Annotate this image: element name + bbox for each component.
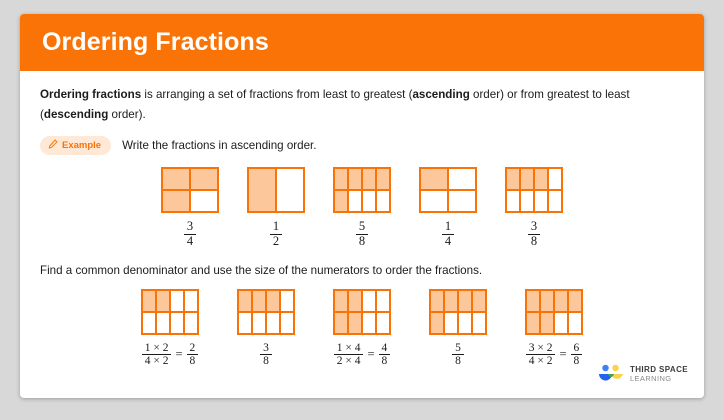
grid-cell-shaded xyxy=(349,169,361,189)
grid-cell-shaded xyxy=(421,169,447,189)
grid-cell-empty xyxy=(449,191,475,211)
grid-cell-empty xyxy=(349,191,361,211)
grid-cell-shaded xyxy=(431,313,443,333)
grid-cell-empty xyxy=(377,313,389,333)
brand-logo: THIRD SPACE LEARNING xyxy=(598,364,688,386)
grid-cell-empty xyxy=(157,313,169,333)
fraction-grid xyxy=(333,289,391,335)
fraction-diagram-five-eighths: 58 xyxy=(417,289,499,368)
grid-cell-shaded xyxy=(335,291,347,311)
grid-cell-empty xyxy=(185,291,197,311)
fraction-numerator: 3 xyxy=(184,220,196,234)
logo-line-2: LEARNING xyxy=(630,375,688,383)
fraction: 58 xyxy=(452,342,464,368)
grid-cell-shaded xyxy=(527,291,539,311)
common-denominator-text: Find a common denominator and use the si… xyxy=(40,264,684,277)
fraction-label: 34 xyxy=(184,220,196,248)
fraction-diagram-six-eighths: 3 × 24 × 2=68 xyxy=(513,289,595,368)
fraction-numerator: 3 xyxy=(528,220,540,234)
fraction-label: 38 xyxy=(528,220,540,248)
fraction-denominator: 8 xyxy=(571,354,583,367)
definition-paragraph: Ordering fractions is arranging a set of… xyxy=(40,85,684,125)
pencil-icon xyxy=(48,139,58,152)
fraction-denominator: 8 xyxy=(379,354,391,367)
fraction-denominator: 2 × 4 xyxy=(334,354,364,367)
fraction-denominator: 8 xyxy=(356,234,368,249)
fraction-numerator: 2 xyxy=(187,342,199,354)
fraction-denominator: 8 xyxy=(528,234,540,249)
fraction-label: 58 xyxy=(356,220,368,248)
fraction-diagram-row-2: 1 × 24 × 2=28381 × 42 × 4=48583 × 24 × 2… xyxy=(40,289,684,368)
grid-cell-shaded xyxy=(335,191,347,211)
fraction: 38 xyxy=(260,342,272,368)
grid-cell-shaded xyxy=(541,313,553,333)
grid-cell-shaded xyxy=(253,291,265,311)
grid-cell-shaded xyxy=(363,169,375,189)
fraction-denominator: 4 xyxy=(442,234,454,249)
grid-cell-empty xyxy=(171,291,183,311)
fraction-denominator: 8 xyxy=(452,354,464,367)
grid-cell-empty xyxy=(445,313,457,333)
grid-cell-empty xyxy=(191,191,217,211)
grid-cell-empty xyxy=(171,313,183,333)
grid-cell-shaded xyxy=(527,313,539,333)
fraction-diagram-two-eighths: 1 × 24 × 2=28 xyxy=(129,289,211,368)
fraction-numerator: 6 xyxy=(571,342,583,354)
fraction-grid xyxy=(237,289,295,335)
grid-cell-shaded xyxy=(459,291,471,311)
grid-cell-shaded xyxy=(377,169,389,189)
term-descending: descending xyxy=(44,108,108,121)
lesson-card: Ordering Fractions Ordering fractions is… xyxy=(20,14,704,398)
fraction-diagram-three-eighths: 38 xyxy=(225,289,307,368)
lesson-body: Ordering fractions is arranging a set of… xyxy=(20,71,704,398)
grid-cell-empty xyxy=(281,313,293,333)
equals-sign: = xyxy=(559,347,566,362)
grid-cell-empty xyxy=(421,191,447,211)
fraction-grid xyxy=(429,289,487,335)
example-badge: Example xyxy=(40,136,111,155)
fraction-grid xyxy=(419,167,477,213)
fraction: 1 × 24 × 2 xyxy=(142,342,172,368)
fraction: 48 xyxy=(379,342,391,368)
grid-cell-empty xyxy=(377,291,389,311)
fraction-diagram-three-eighths: 38 xyxy=(498,167,570,248)
grid-cell-shaded xyxy=(163,191,189,211)
grid-cell-empty xyxy=(521,191,533,211)
grid-cell-shaded xyxy=(473,291,485,311)
fraction-denominator: 4 × 2 xyxy=(142,354,172,367)
fraction-numerator: 3 × 2 xyxy=(526,342,556,354)
fraction-diagram-five-eighths: 58 xyxy=(326,167,398,248)
fraction-numerator: 1 × 4 xyxy=(334,342,364,354)
grid-cell-empty xyxy=(555,313,567,333)
grid-cell-empty xyxy=(363,313,375,333)
logo-mark-icon xyxy=(598,364,624,386)
grid-cell-shaded xyxy=(143,291,155,311)
grid-cell-shaded xyxy=(541,291,553,311)
fraction: 1 × 42 × 4 xyxy=(334,342,364,368)
fraction-numerator: 1 xyxy=(270,220,282,234)
fraction-denominator: 8 xyxy=(187,354,199,367)
fraction-diagram-one-quarter: 14 xyxy=(412,167,484,248)
grid-cell-empty xyxy=(449,169,475,189)
fraction-grid xyxy=(161,167,219,213)
grid-cell-shaded xyxy=(239,291,251,311)
fraction-label: 1 × 42 × 4=48 xyxy=(334,342,391,368)
grid-cell-shaded xyxy=(535,169,547,189)
grid-cell-shaded xyxy=(191,169,217,189)
fraction-numerator: 1 xyxy=(442,220,454,234)
fraction: 34 xyxy=(184,220,196,248)
grid-cell-shaded xyxy=(335,169,347,189)
grid-cell-empty xyxy=(535,191,547,211)
fraction-numerator: 1 × 2 xyxy=(142,342,172,354)
grid-cell-shaded xyxy=(445,291,457,311)
grid-cell-shaded xyxy=(569,291,581,311)
fraction-label: 14 xyxy=(442,220,454,248)
grid-cell-shaded xyxy=(349,313,361,333)
fraction-grid xyxy=(141,289,199,335)
fraction-label: 38 xyxy=(260,342,272,368)
fraction-grid xyxy=(333,167,391,213)
fraction-diagram-four-eighths: 1 × 42 × 4=48 xyxy=(321,289,403,368)
grid-cell-empty xyxy=(377,191,389,211)
fraction-denominator: 4 × 2 xyxy=(526,354,556,367)
fraction: 12 xyxy=(270,220,282,248)
grid-cell-shaded xyxy=(163,169,189,189)
grid-cell-empty xyxy=(473,313,485,333)
grid-cell-shaded xyxy=(267,291,279,311)
grid-cell-shaded xyxy=(521,169,533,189)
fraction-diagram-one-half: 12 xyxy=(240,167,312,248)
page-header: Ordering Fractions xyxy=(20,14,704,71)
grid-cell-empty xyxy=(549,191,561,211)
logo-text: THIRD SPACE LEARNING xyxy=(630,366,688,383)
grid-cell-empty xyxy=(507,191,519,211)
fraction: 58 xyxy=(356,220,368,248)
fraction-denominator: 8 xyxy=(260,354,272,367)
grid-cell-shaded xyxy=(335,313,347,333)
grid-cell-shaded xyxy=(249,169,275,211)
fraction: 28 xyxy=(187,342,199,368)
term-ascending: ascending xyxy=(412,88,469,101)
grid-cell-empty xyxy=(253,313,265,333)
definition-part3: order). xyxy=(108,108,145,121)
grid-cell-shaded xyxy=(157,291,169,311)
example-row: Example Write the fractions in ascending… xyxy=(40,136,684,155)
grid-cell-empty xyxy=(459,313,471,333)
fraction-label: 1 × 24 × 2=28 xyxy=(142,342,199,368)
definition-term: Ordering fractions xyxy=(40,88,141,101)
grid-cell-empty xyxy=(277,169,303,211)
example-badge-label: Example xyxy=(62,140,101,151)
fraction: 38 xyxy=(528,220,540,248)
page-title: Ordering Fractions xyxy=(42,28,269,57)
grid-cell-empty xyxy=(239,313,251,333)
grid-cell-shaded xyxy=(349,291,361,311)
grid-cell-empty xyxy=(143,313,155,333)
fraction-diagram-row-1: 3412581438 xyxy=(40,167,684,248)
grid-cell-shaded xyxy=(507,169,519,189)
grid-cell-empty xyxy=(363,191,375,211)
fraction-label: 58 xyxy=(452,342,464,368)
fraction-numerator: 5 xyxy=(356,220,368,234)
grid-cell-empty xyxy=(267,313,279,333)
fraction-numerator: 4 xyxy=(379,342,391,354)
grid-cell-empty xyxy=(549,169,561,189)
fraction: 14 xyxy=(442,220,454,248)
fraction-grid xyxy=(525,289,583,335)
grid-cell-shaded xyxy=(555,291,567,311)
fraction-label: 3 × 24 × 2=68 xyxy=(526,342,583,368)
grid-cell-empty xyxy=(569,313,581,333)
fraction-diagram-three-quarters: 34 xyxy=(154,167,226,248)
grid-cell-shaded xyxy=(431,291,443,311)
grid-cell-empty xyxy=(363,291,375,311)
fraction-numerator: 3 xyxy=(260,342,272,354)
definition-part1: is arranging a set of fractions from lea… xyxy=(141,88,412,101)
grid-cell-empty xyxy=(281,291,293,311)
grid-cell-empty xyxy=(185,313,197,333)
fraction: 3 × 24 × 2 xyxy=(526,342,556,368)
fraction-denominator: 4 xyxy=(184,234,196,249)
fraction-denominator: 2 xyxy=(270,234,282,249)
equals-sign: = xyxy=(175,347,182,362)
example-instruction: Write the fractions in ascending order. xyxy=(122,139,316,152)
fraction-numerator: 5 xyxy=(452,342,464,354)
fraction-grid xyxy=(247,167,305,213)
fraction-grid xyxy=(505,167,563,213)
equals-sign: = xyxy=(367,347,374,362)
fraction-label: 12 xyxy=(270,220,282,248)
fraction: 68 xyxy=(571,342,583,368)
